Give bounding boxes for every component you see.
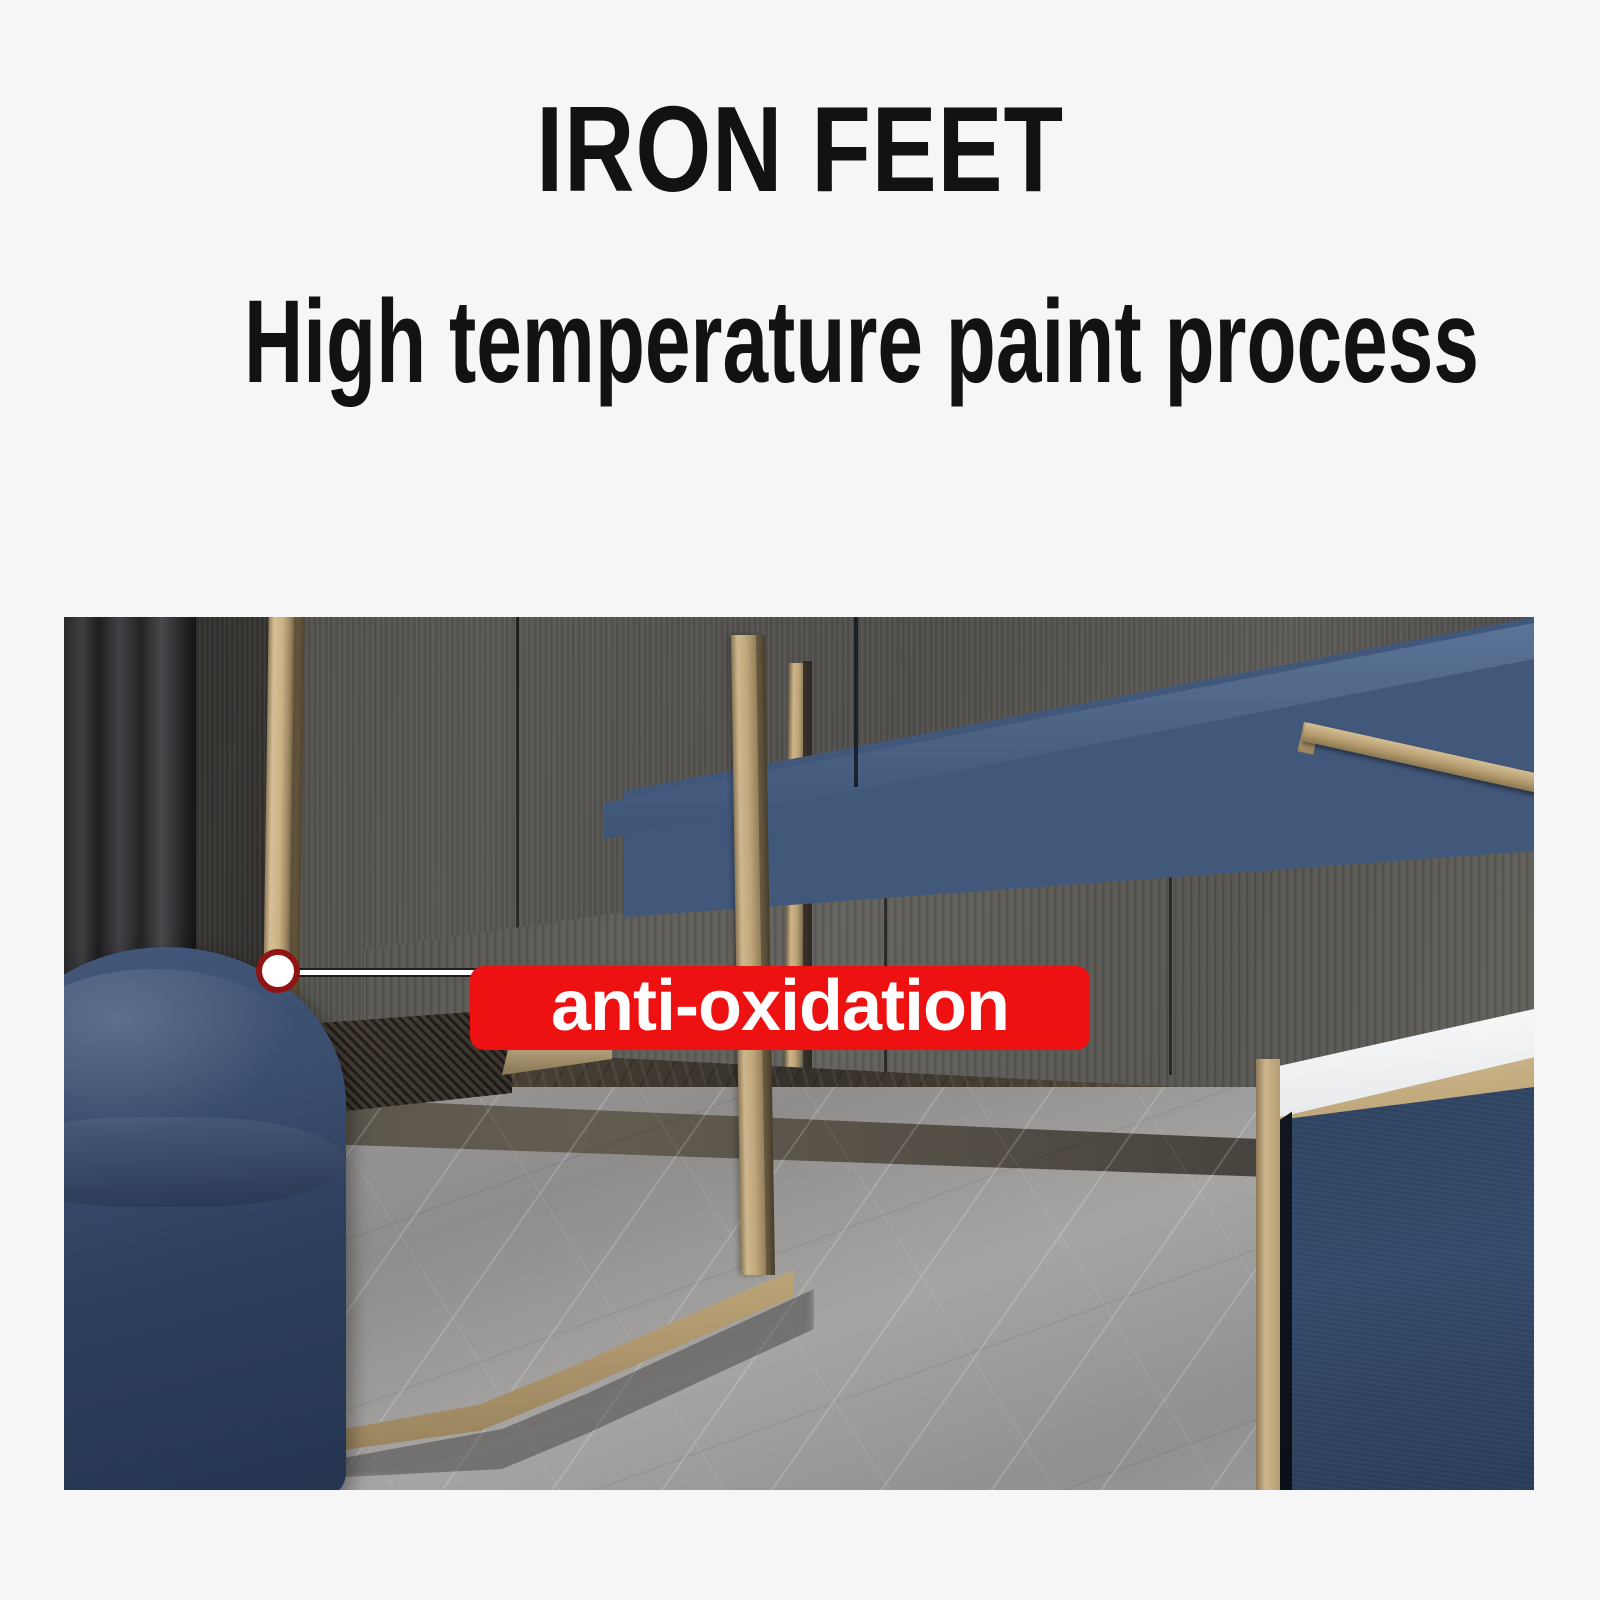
side-cabinet-panel-gap bbox=[1280, 1087, 1292, 1490]
cabinet-door-seam bbox=[854, 617, 858, 787]
status-badge: anti-oxidation bbox=[470, 966, 1090, 1050]
page-subtitle: High temperature paint process bbox=[244, 283, 1356, 401]
product-photo bbox=[64, 617, 1534, 1490]
side-cabinet-gold-post bbox=[1256, 1059, 1280, 1490]
callout-leader-line bbox=[278, 968, 478, 977]
callout-dot-icon bbox=[256, 949, 300, 993]
status-badge-label: anti-oxidation bbox=[551, 970, 1009, 1042]
side-cabinet-blue-panel bbox=[1280, 1087, 1534, 1490]
page-title: IRON FEET bbox=[160, 88, 1440, 210]
